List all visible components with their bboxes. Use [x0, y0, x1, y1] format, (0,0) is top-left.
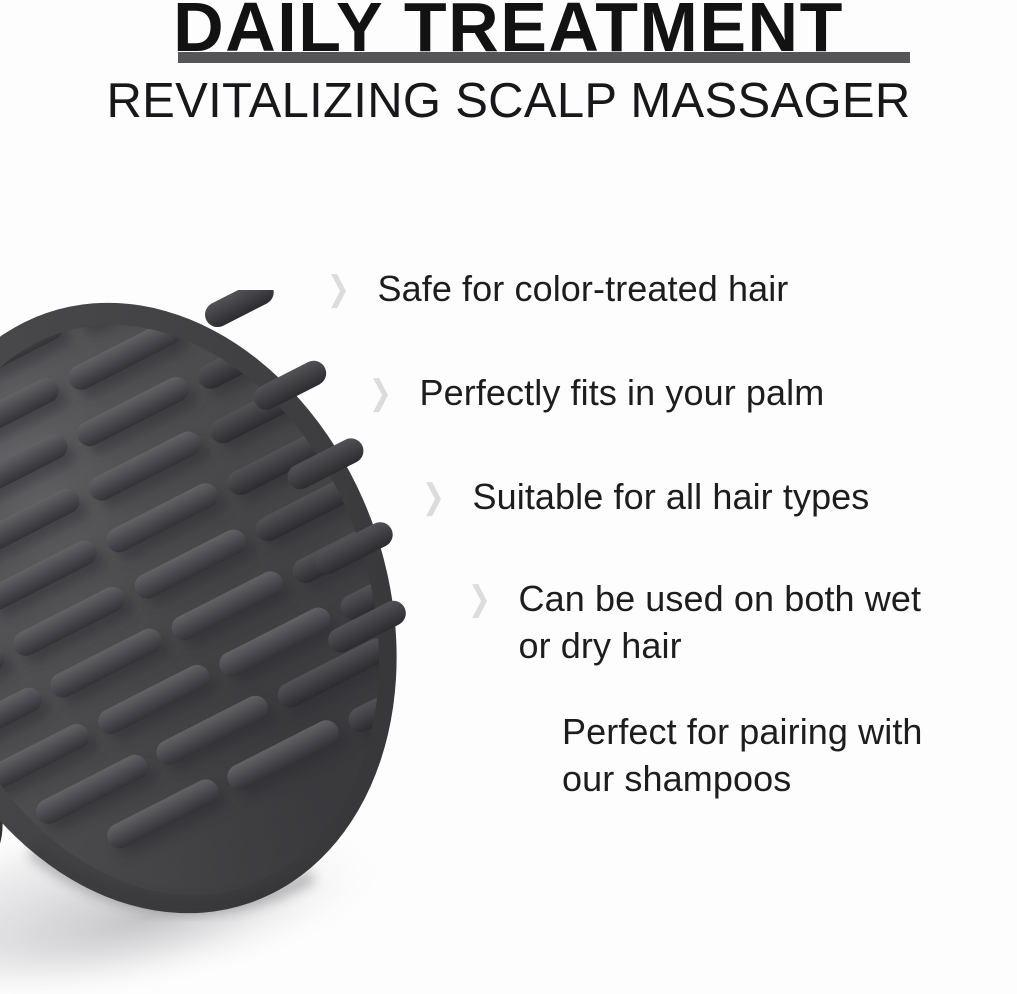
product-feature-graphic: DAILY TREATMENT REVITALIZING SCALP MASSA… — [0, 0, 1017, 994]
feature-list: ❯ Safe for color-treated hair ❯ Perfectl… — [0, 255, 1017, 825]
list-item-label: Safe for color-treated hair — [378, 265, 789, 312]
list-item-label: Suitable for all hair types — [473, 473, 870, 520]
list-item: ❯ Suitable for all hair types — [422, 473, 869, 521]
list-item: ❯ Perfectly fits in your palm — [369, 369, 824, 417]
list-item: ❯ Can be used on both wet or dry hair — [468, 575, 921, 669]
header: DAILY TREATMENT REVITALIZING SCALP MASSA… — [0, 0, 1017, 140]
chevron-right-icon: ❯ — [369, 369, 392, 417]
list-item: Perfect for pairing with our shampoos — [562, 708, 923, 802]
list-item-label: Perfect for pairing with our shampoos — [562, 708, 923, 802]
chevron-right-icon: ❯ — [468, 575, 491, 623]
page-subtitle: REVITALIZING SCALP MASSAGER — [0, 72, 1017, 130]
page-title: DAILY TREATMENT — [173, 0, 844, 68]
list-item-label: Can be used on both wet or dry hair — [519, 575, 922, 669]
chevron-right-icon: ❯ — [327, 265, 350, 313]
chevron-right-icon: ❯ — [422, 473, 445, 521]
list-item: ❯ Safe for color-treated hair — [327, 265, 788, 313]
list-item-label: Perfectly fits in your palm — [420, 369, 825, 416]
